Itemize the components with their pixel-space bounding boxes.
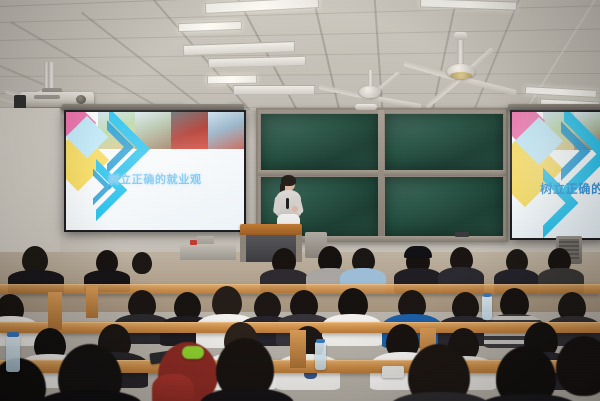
students-photo xyxy=(208,112,244,149)
slide-title: 树立正确的就业观 xyxy=(522,180,600,197)
water-bottle[interactable] xyxy=(482,296,492,320)
water-bottle-cap xyxy=(316,339,325,343)
board-light xyxy=(355,104,377,110)
presenter-hand xyxy=(292,206,298,212)
water-bottle[interactable] xyxy=(315,342,326,370)
audience-body xyxy=(478,394,578,401)
water-bottle[interactable] xyxy=(6,336,20,372)
audience-row-front xyxy=(0,330,600,401)
water-bottle-cap xyxy=(483,293,491,297)
fluorescent-light-panel xyxy=(207,75,257,85)
slide-title: 树立正确的就业观 xyxy=(66,171,244,187)
blackboard-panel-top-left xyxy=(260,113,380,173)
audience-head xyxy=(132,252,152,274)
ceiling-projector xyxy=(14,62,100,110)
audience-body xyxy=(390,392,490,401)
left-projection-screen[interactable]: 树立正确的就业观 xyxy=(64,110,246,232)
audience-body xyxy=(38,390,142,401)
red-banner-photo xyxy=(171,112,208,149)
audience-head xyxy=(556,336,600,396)
slide-content-left: 树立正确的就业观 xyxy=(66,112,244,230)
right-projection-screen[interactable]: 树立正确的就业观 xyxy=(510,110,600,240)
red-ponytail xyxy=(152,374,194,401)
audience-head xyxy=(496,346,556,401)
blackboard-center-divider xyxy=(378,110,384,240)
handheld-microphone[interactable] xyxy=(286,198,289,209)
slide-content-right: 树立正确的就业观 xyxy=(512,112,600,238)
projector-lens xyxy=(76,95,86,104)
green-hair-tie xyxy=(182,346,204,359)
blackboard-panel-bottom-right xyxy=(384,176,504,238)
lecture-hall-photo: 树立正确的就业观 树立正确的就业观 xyxy=(0,0,600,401)
podium-top xyxy=(240,224,302,235)
blackboard-panel-top-right xyxy=(384,113,504,173)
black-cap xyxy=(404,246,432,258)
light-diffuser xyxy=(233,85,315,95)
water-bottle-cap xyxy=(7,332,19,337)
